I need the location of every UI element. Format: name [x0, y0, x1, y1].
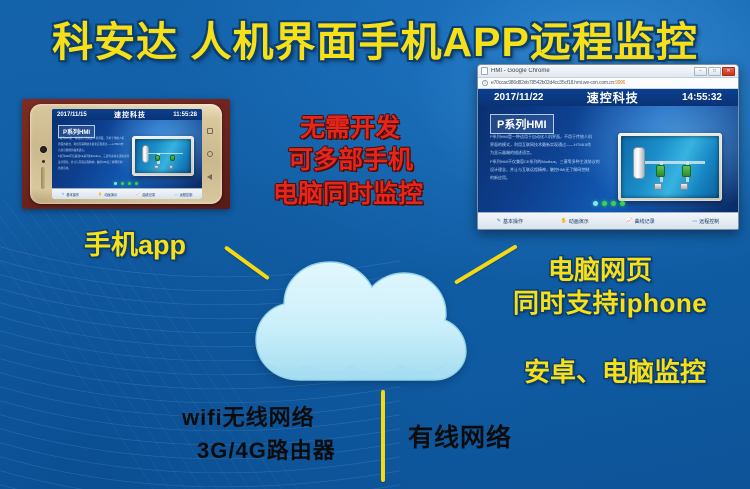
phone-hmi-toolbar: ✎ 基本操作 ✋ 动画演示 📈 曲线记录 〰 远程控制: [52, 188, 202, 199]
controller-icon: [154, 165, 158, 169]
pc-hmi-body-line: 设计理念，并让与互联远程精神，触控HMI还了解网控制: [490, 167, 610, 173]
pc-hmi-body-line: 界面的模式，利用互联网技术最新实现通过——HTML5作: [490, 142, 610, 148]
phone-hmi-panel-device: [132, 136, 194, 176]
pc-hmi-status-dots: [593, 201, 625, 206]
status-dot: [593, 201, 598, 206]
phone-body: 2017/11/15 速控科技 11:55:28 P系列HMI P系列HMI是一…: [30, 104, 222, 204]
phone-photo: 2017/11/15 速控科技 11:55:28 P系列HMI P系列HMI是一…: [22, 99, 230, 209]
phone-hmi-brand: 速控科技: [114, 110, 146, 120]
pc-toolbar-item-remote[interactable]: 〰 远程控制: [692, 218, 719, 225]
signal-icon: 〰: [174, 192, 177, 197]
phone-hmi-body: P系列HMI是一种适用于自动化人机界面，不用于传统人机 界面的模式，利用互联网技…: [58, 137, 130, 173]
pump-icon: [170, 155, 175, 162]
status-dot: [135, 182, 138, 185]
pc-toolbar-item-animation[interactable]: ✋ 动画演示: [561, 218, 589, 225]
signal-icon: 〰: [692, 218, 697, 225]
pc-hmi-body: P系列HMI是一种适用于自动化人机界面，不用于传统人机 界面的模式，利用互联网技…: [490, 134, 610, 183]
status-dot: [121, 182, 124, 185]
pump-icon: [682, 165, 691, 177]
pc-hmi-body-line: 的新应用。: [490, 175, 610, 181]
pc-hmi-body-line: P系列HMI不仅兼容CE系列的Modbus、三菱等多种主流协议的: [490, 159, 610, 165]
phone-camera-icon: [40, 146, 47, 153]
phone-toolbar-label: 远程控制: [180, 192, 193, 197]
phone-toolbar-item-animation[interactable]: ✋ 动画演示: [98, 192, 117, 197]
phone-hmi-body-line: P系列HMI是一种适用于自动化人机界面，不用于传统人机: [58, 137, 130, 141]
pump-icon: [656, 165, 665, 177]
pc-hmi-topbar: 2017/11/22 速控科技 14:55:32: [478, 89, 738, 106]
status-dot: [128, 182, 131, 185]
hand-icon: ✋: [98, 192, 102, 196]
phone-app-label: 手机app: [84, 223, 186, 262]
pc-toolbar-label: 基本操作: [503, 218, 523, 225]
callout-red-line-3: 电脑同时监控: [273, 174, 423, 210]
wrench-icon: ✎: [62, 192, 65, 196]
status-dot: [620, 201, 625, 206]
phone-toolbar-item-remote[interactable]: 〰 远程控制: [174, 192, 192, 197]
browser-titlebar[interactable]: HMI - Google Chrome − □ ✕: [478, 65, 738, 78]
phone-hmi-status-dots: [114, 182, 138, 185]
phone-hmi-body-line: 的新应用。: [58, 167, 130, 171]
home-icon[interactable]: [207, 151, 213, 157]
close-button[interactable]: ✕: [722, 67, 735, 76]
phone-sensor-icon: [42, 160, 45, 163]
phone-hmi-time: 11:55:28: [173, 112, 197, 118]
browser-url-text: e70ccac986d82eb78542b02d4cc35cf18.hmi.we…: [491, 80, 625, 86]
network-wired-label: 有线网络: [408, 418, 512, 454]
status-dot: [602, 201, 607, 206]
wrench-icon: ✎: [497, 218, 501, 224]
url-host: e70ccac986d82eb78542b02d4cc35cf18.hmi.we…: [491, 80, 614, 86]
minimize-button[interactable]: −: [694, 67, 707, 76]
phone-toolbar-item-curve[interactable]: 📈 曲线记录: [136, 192, 155, 197]
pc-hmi-panel-device: [618, 133, 722, 201]
phone-hmi-date: 2017/11/15: [57, 112, 87, 118]
pc-hmi-brand: 速控科技: [587, 89, 639, 106]
hand-icon: ✋: [561, 218, 567, 224]
phone-hmi-topbar: 2017/11/15 速控科技 11:55:28: [52, 109, 202, 120]
phone-hmi-body-line: P系列HMI不仅兼容CE系列的Modbus、三菱等多种主流协议的: [58, 155, 130, 159]
callout-red-line-1: 无需开发: [300, 108, 400, 144]
pc-hmi-heading: P系列HMI: [490, 114, 554, 134]
phone-toolbar-label: 曲线记录: [142, 192, 155, 197]
callout-red-line-2: 可多部手机: [288, 140, 413, 176]
callout-pc-android: 安卓、电脑监控: [524, 352, 706, 389]
phone-toolbar-item-basic[interactable]: ✎ 基本操作: [62, 192, 79, 197]
window-controls[interactable]: − □ ✕: [694, 67, 735, 76]
pipe-icon: [148, 153, 183, 155]
phone-hmi-body-line: 界面的模式，利用互联网技术最新实现通过——HTML5作: [58, 143, 130, 147]
callout-pc-web: 电脑网页: [548, 250, 652, 287]
status-dot: [114, 182, 117, 185]
status-dot: [611, 201, 616, 206]
callout-pc-iphone: 同时支持iphone: [513, 283, 707, 320]
phone-hmi-body-line: 设计理念，并让与互联远程精神，触控HMI还了解网控制: [58, 161, 130, 165]
cloud-shape: [234, 252, 484, 392]
url-port: :9999: [614, 80, 626, 86]
page-title: 科安达 人机界面手机APP远程监控: [0, 8, 750, 68]
pc-hmi-panel-display: [621, 136, 719, 198]
chart-icon: 📈: [626, 218, 632, 224]
phone-hmi-body-line: 为显示器端的描述语言。: [58, 149, 130, 153]
maximize-button[interactable]: □: [708, 67, 721, 76]
pc-hmi-screen[interactable]: 2017/11/22 速控科技 14:55:32 P系列HMI P系列HMI是一…: [478, 89, 738, 229]
phone-hmi-screen[interactable]: 2017/11/15 速控科技 11:55:28 P系列HMI P系列HMI是一…: [52, 109, 202, 199]
chart-icon: 📈: [136, 192, 140, 196]
pc-toolbar-label: 曲线记录: [635, 218, 655, 225]
connector-cloud-to-network: [381, 390, 385, 482]
browser-title: HMI - Google Chrome: [491, 68, 550, 74]
network-wireless-line-1: wifi无线网络: [182, 400, 315, 432]
controller-icon: [169, 165, 173, 169]
pc-toolbar-label: 动画演示: [569, 218, 589, 225]
page-info-icon[interactable]: i: [482, 80, 488, 86]
pc-hmi-toolbar: ✎ 基本操作 ✋ 动画演示 📈 曲线记录 〰 远程控制: [478, 212, 738, 229]
pipe-icon: [645, 161, 706, 164]
controller-icon: [654, 183, 662, 190]
pump-icon: [155, 155, 160, 162]
browser-address-bar[interactable]: i e70ccac986d82eb78542b02d4cc35cf18.hmi.…: [478, 78, 738, 89]
phone-toolbar-label: 基本操作: [66, 192, 79, 197]
pc-hmi-body-line: 为显示器端的描述语言。: [490, 150, 610, 156]
network-wireless-line-2: 3G/4G路由器: [197, 433, 336, 465]
pc-toolbar-item-curve[interactable]: 📈 曲线记录: [626, 218, 654, 225]
pc-toolbar-label: 远程控制: [699, 218, 719, 225]
pc-hmi-body-line: P系列HMI是一种适用于自动化人机界面，不用于传统人机: [490, 134, 610, 140]
back-icon[interactable]: [207, 174, 212, 180]
controller-icon: [680, 183, 688, 190]
phone-navigation-bar: [203, 120, 216, 188]
phone-speaker-icon: [41, 167, 45, 189]
pc-toolbar-item-basic[interactable]: ✎ 基本操作: [497, 218, 523, 225]
phone-toolbar-label: 动画演示: [104, 192, 117, 197]
browser-viewport: 2017/11/22 速控科技 14:55:32 P系列HMI P系列HMI是一…: [478, 89, 738, 229]
recents-icon[interactable]: [207, 128, 213, 134]
browser-window[interactable]: HMI - Google Chrome − □ ✕ i e70ccac986d8…: [477, 64, 739, 230]
tab-favicon-icon: [481, 67, 488, 75]
pc-hmi-date: 2017/11/22: [494, 92, 544, 103]
pc-hmi-time: 14:55:32: [682, 92, 722, 103]
phone-hmi-panel-display: [135, 139, 191, 173]
